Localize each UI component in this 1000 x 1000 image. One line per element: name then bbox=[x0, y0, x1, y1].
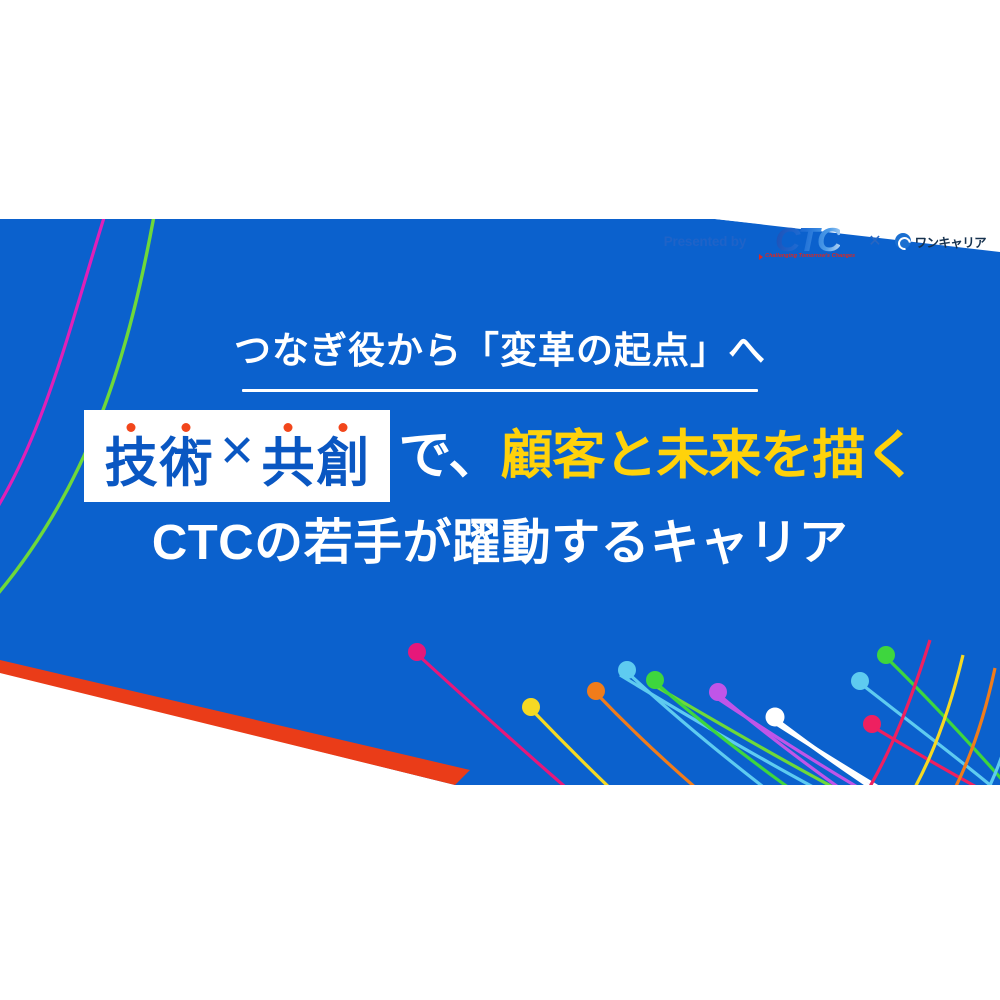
boxed-kanji-1: 技 bbox=[105, 421, 158, 490]
ctc-wordmark: CTC bbox=[775, 223, 840, 256]
ctc-logo[interactable]: CTC Challenging Tomorrow's Changes bbox=[759, 223, 855, 260]
onecareer-logo[interactable]: ワンキャリア bbox=[895, 232, 986, 251]
dot-white bbox=[766, 708, 785, 727]
headline-emphasis: 顧客と未来を描く bbox=[500, 429, 916, 482]
boxed-kanji-2: 術 bbox=[160, 421, 213, 490]
onecareer-swirl-icon bbox=[895, 233, 911, 249]
onecareer-wordmark: ワンキャリア bbox=[915, 232, 986, 251]
boxed-times-icon: ✕ bbox=[215, 430, 260, 478]
presented-by-label: Presented by bbox=[664, 234, 746, 249]
headline-kicker: つなぎ役から「変革の起点」へ bbox=[0, 330, 1000, 373]
headline-main-line: 技 術 ✕ 共 創 で、 顧客と未来を描く bbox=[0, 410, 1000, 502]
dot-magenta bbox=[408, 643, 426, 661]
dot-green-2 bbox=[877, 646, 895, 664]
dot-green bbox=[646, 671, 664, 689]
dot-skyblue-2 bbox=[851, 672, 869, 690]
boxed-kanji-3: 共 bbox=[261, 421, 314, 490]
dot-skyblue bbox=[618, 661, 636, 679]
headline-divider bbox=[242, 389, 758, 392]
dot-crimson bbox=[863, 715, 881, 733]
presented-by-bar: Presented by CTC Challenging Tomorrow's … bbox=[664, 224, 986, 258]
key-visual-slide: Presented by CTC Challenging Tomorrow's … bbox=[0, 0, 1000, 1000]
flag-icon bbox=[759, 254, 763, 260]
boxed-keyword: 技 術 ✕ 共 創 bbox=[84, 410, 391, 502]
headline-block: つなぎ役から「変革の起点」へ 技 術 ✕ 共 創 で、 顧客と未来を描く CTC… bbox=[0, 330, 1000, 570]
headline-subline: CTCの若手が躍動するキャリア bbox=[0, 516, 1000, 571]
boxed-kanji-4: 創 bbox=[316, 421, 369, 490]
logo-separator-icon: ✕ bbox=[868, 231, 881, 251]
dot-orange bbox=[587, 682, 605, 700]
dot-yellow bbox=[522, 698, 540, 716]
headline-connector: で、 bbox=[398, 429, 500, 482]
dot-violet bbox=[709, 683, 727, 701]
